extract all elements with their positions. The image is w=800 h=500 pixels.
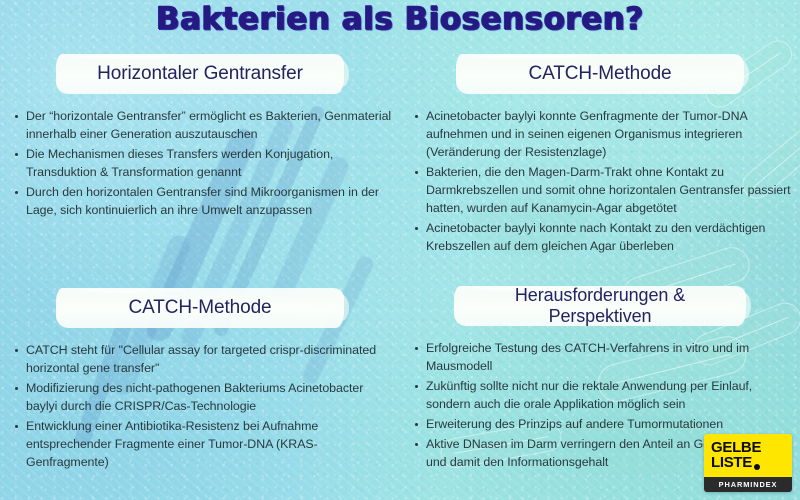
- logo-subtitle: PHARMINDEX: [704, 477, 792, 493]
- section-header-banner: Horizontaler Gentransfer: [64, 52, 336, 96]
- section-catch-methode-grundlagen: CATCH-Methode CATCH steht für "Cellular …: [0, 286, 400, 474]
- list-item: Modifizierung des nicht-pathogenen Bakte…: [14, 380, 392, 416]
- logo-line-2: LISTE: [711, 456, 752, 471]
- list-item: Die Mechanismen dieses Transfers werden …: [14, 146, 392, 182]
- section-header-banner: CATCH-Methode: [64, 286, 336, 330]
- bullet-list: Acinetobacter baylyi konnte Genfragmente…: [400, 108, 800, 256]
- bullet-list: CATCH steht für "Cellular assay for targ…: [0, 342, 400, 472]
- list-item: Erfolgreiche Testung des CATCH-Verfahren…: [414, 340, 794, 376]
- logo-line-2-row: LISTE: [711, 456, 786, 471]
- brush-stroke-fray: [735, 292, 751, 319]
- section-header-label: Herausforderungen & Perspektiven: [515, 285, 685, 326]
- bullet-list: Der “horizontale Gentransfer” ermöglicht…: [0, 108, 400, 220]
- list-item: Entwicklung einer Antibiotika-Resistenz …: [14, 418, 392, 472]
- content-grid: Horizontaler Gentransfer Der “horizontal…: [0, 0, 800, 500]
- section-header-label: CATCH-Methode: [529, 63, 672, 85]
- section-horizontaler-gentransfer: Horizontaler Gentransfer Der “horizontal…: [0, 52, 400, 222]
- section-header-label: CATCH-Methode: [129, 297, 272, 319]
- section-header-label: Horizontaler Gentransfer: [97, 63, 303, 85]
- brush-stroke-fray: [333, 60, 349, 87]
- list-item: Bakterien, die den Magen-Darm-Trakt ohne…: [414, 164, 794, 218]
- page-title: Bakterien als Biosensoren?: [0, 1, 800, 37]
- brush-stroke-fray: [333, 294, 349, 321]
- section-catch-methode-ergebnisse: CATCH-Methode Acinetobacter baylyi konnt…: [400, 52, 800, 258]
- list-item: Acinetobacter baylyi konnte Genfragmente…: [414, 108, 794, 162]
- list-item: Erweiterung des Prinzips auf andere Tumo…: [414, 416, 794, 434]
- list-item: Der “horizontale Gentransfer” ermöglicht…: [14, 108, 392, 144]
- gelbe-liste-logo[interactable]: GELBE LISTE PHARMINDEX: [704, 434, 792, 492]
- list-item: CATCH steht für "Cellular assay for targ…: [14, 342, 392, 378]
- brush-stroke-fray: [733, 60, 749, 87]
- list-item: Zukünftig sollte nicht nur die rektale A…: [414, 378, 794, 414]
- list-item: Durch den horizontalen Gentransfer sind …: [14, 184, 392, 220]
- section-header-banner: CATCH-Methode: [464, 52, 736, 96]
- section-header-banner: Herausforderungen & Perspektiven: [462, 284, 738, 328]
- logo-dot-icon: [754, 464, 760, 470]
- logo-yellow-block: GELBE LISTE: [704, 434, 792, 476]
- list-item: Acinetobacter baylyi konnte nach Kontakt…: [414, 220, 794, 256]
